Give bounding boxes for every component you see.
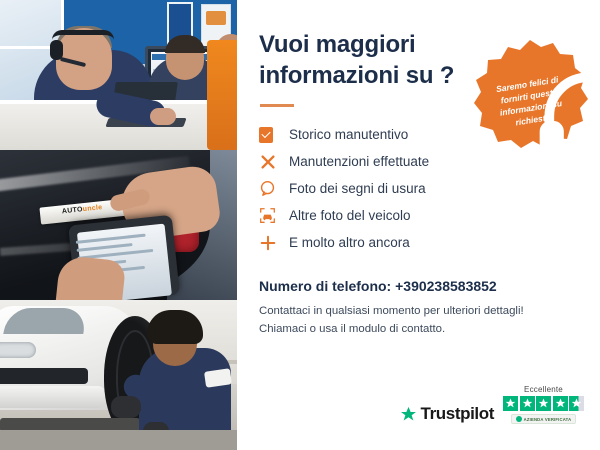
list-item-label: Altre foto del veicolo [289, 208, 411, 223]
photo-wheel-service [0, 300, 237, 450]
trustpilot-name: Trustpilot [421, 404, 494, 424]
wrench-tools-icon [259, 153, 289, 171]
contact-line-2: Chiamaci o usa il modulo di contatto. [259, 321, 578, 338]
content-panel: Vuoi maggiori informazioni su ? Saremo f… [237, 0, 600, 450]
star-filled [553, 396, 568, 411]
verified-check-icon [516, 416, 522, 422]
list-item-label: E molto altro ancora [289, 235, 410, 250]
verified-label: AZIENDA VERIFICATA [524, 417, 572, 422]
star-half [569, 396, 584, 411]
speech-bubble-icon [259, 180, 289, 197]
star-rating [503, 396, 584, 411]
list-item: Altre foto del veicolo [259, 202, 578, 229]
list-item: Foto dei segni di usura [259, 175, 578, 202]
list-item-label: Foto dei segni di usura [289, 181, 426, 196]
star-filled [536, 396, 551, 411]
plus-icon [259, 234, 289, 252]
windshield [3, 308, 89, 334]
trustpilot-rating: Eccellente AZIENDA VERIFICATA [503, 385, 584, 424]
list-item: E molto altro ancora [259, 229, 578, 256]
front-bumper [0, 386, 106, 408]
photo-call-center [0, 0, 237, 150]
checkbox-checked-icon [259, 127, 289, 143]
trustpilot-logo: Trustpilot [400, 404, 494, 424]
rating-word: Eccellente [524, 385, 563, 394]
phone-number[interactable]: Numero di telefono: +390238583852 [259, 278, 578, 294]
list-item-label: Manutenzioni effettuate [289, 154, 429, 169]
trustpilot-star-icon [400, 406, 417, 423]
verified-company-badge: AZIENDA VERIFICATA [511, 414, 577, 424]
info-badge: Saremo felici di fornirti queste informa… [472, 38, 588, 154]
contact-line-1: Contattaci in qualsiasi momento per ulte… [259, 303, 578, 320]
star-filled [520, 396, 535, 411]
agent-hand [150, 108, 176, 125]
headlight [0, 342, 36, 358]
garage-floor [0, 430, 237, 450]
title-underline-rule [260, 104, 294, 107]
mechanic-hair [147, 310, 203, 344]
photo-vehicle-inspection: AUTOuncle [0, 150, 237, 300]
front-grille [0, 368, 88, 384]
orange-divider-object [207, 40, 237, 150]
promo-banner: AUTOuncle [0, 0, 600, 450]
list-item-label: Storico manutentivo [289, 127, 408, 142]
car-focus-icon [259, 207, 289, 224]
page-title: Vuoi maggiori informazioni su ? [259, 30, 469, 91]
photo-column: AUTOuncle [0, 0, 237, 450]
star-filled [503, 396, 518, 411]
contact-description: Contattaci in qualsiasi momento per ulte… [259, 303, 578, 338]
headset-band [52, 30, 114, 40]
trustpilot-widget[interactable]: Trustpilot Eccellente AZIENDA VERIFICATA [400, 385, 584, 424]
mechanic-glove-upper [111, 396, 141, 418]
